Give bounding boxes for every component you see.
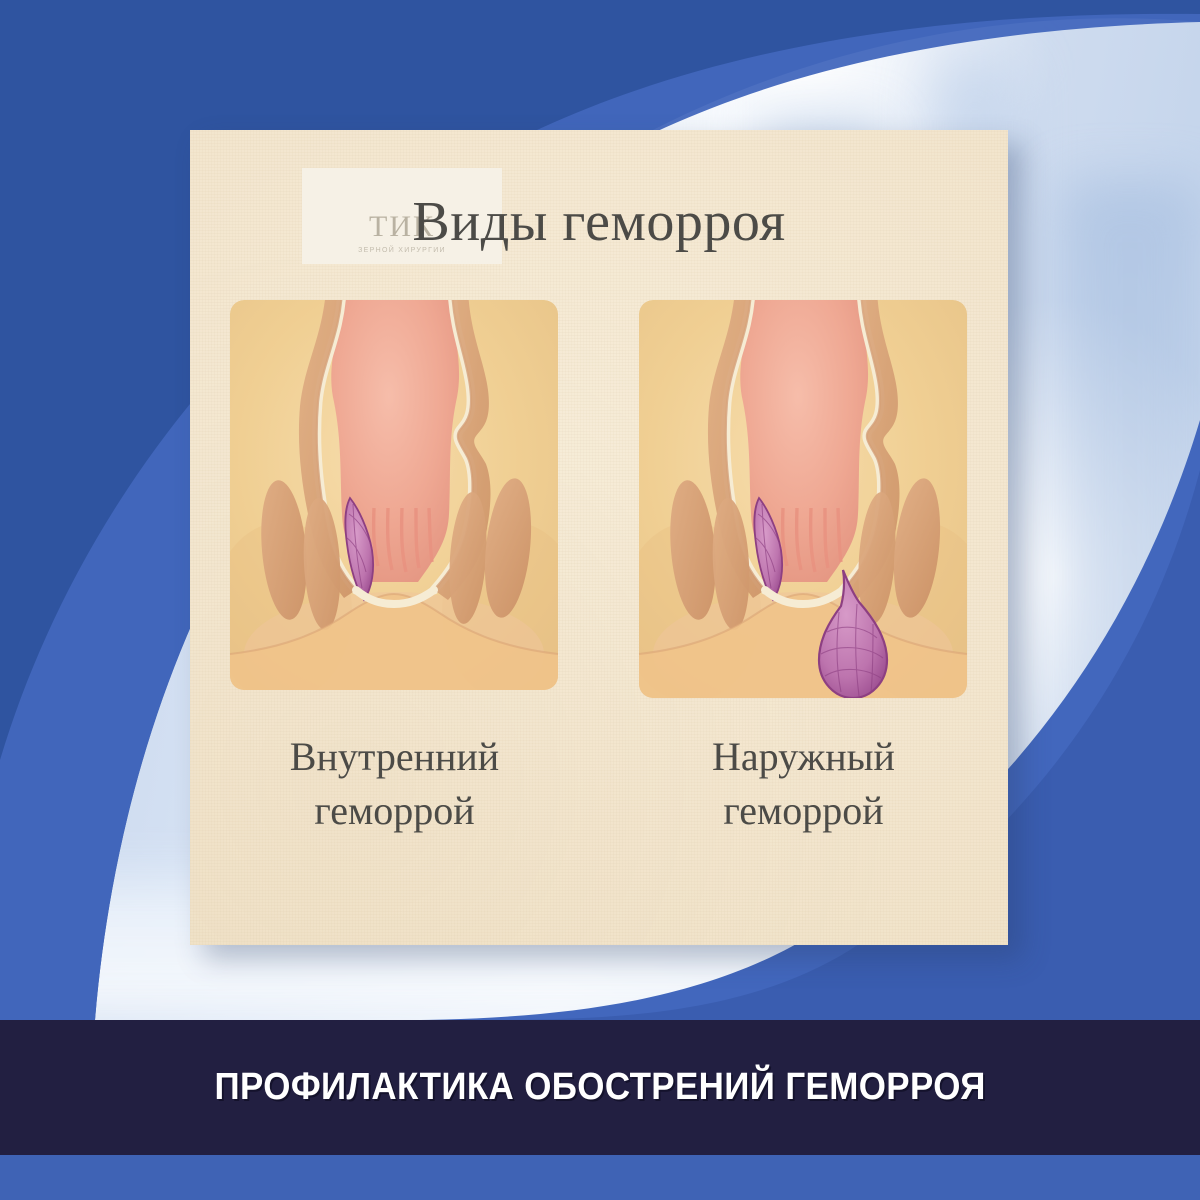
caption-external-line1: Наружный <box>712 734 895 779</box>
caption-external: Наружный геморрой <box>599 730 1008 838</box>
caption-row: Внутренний геморрой Наружный геморрой <box>190 730 1008 838</box>
page-title: Виды геморроя <box>190 190 1008 254</box>
caption-internal-line1: Внутренний <box>290 734 499 779</box>
infographic-canvas: ТИК ЗЕРНОЙ ХИРУРГИИ Виды геморроя <box>0 0 1200 1200</box>
internal-hemorrhoid-illustration <box>222 282 567 702</box>
bottom-banner: ПРОФИЛАКТИКА ОБОСТРЕНИЙ ГЕМОРРОЯ <box>0 1020 1200 1155</box>
content-card: ТИК ЗЕРНОЙ ХИРУРГИИ Виды геморроя <box>190 130 1008 945</box>
caption-internal: Внутренний геморрой <box>190 730 599 838</box>
figure-row <box>190 282 1008 712</box>
external-hemorrhoid-illustration <box>631 282 976 702</box>
caption-external-line2: геморрой <box>723 788 883 833</box>
banner-headline: ПРОФИЛАКТИКА ОБОСТРЕНИЙ ГЕМОРРОЯ <box>214 1066 985 1109</box>
caption-internal-line2: геморрой <box>314 788 474 833</box>
figure-external-hemorrhoid <box>631 282 976 702</box>
figure-internal-hemorrhoid <box>222 282 567 702</box>
footer-blue-strip <box>0 1155 1200 1200</box>
